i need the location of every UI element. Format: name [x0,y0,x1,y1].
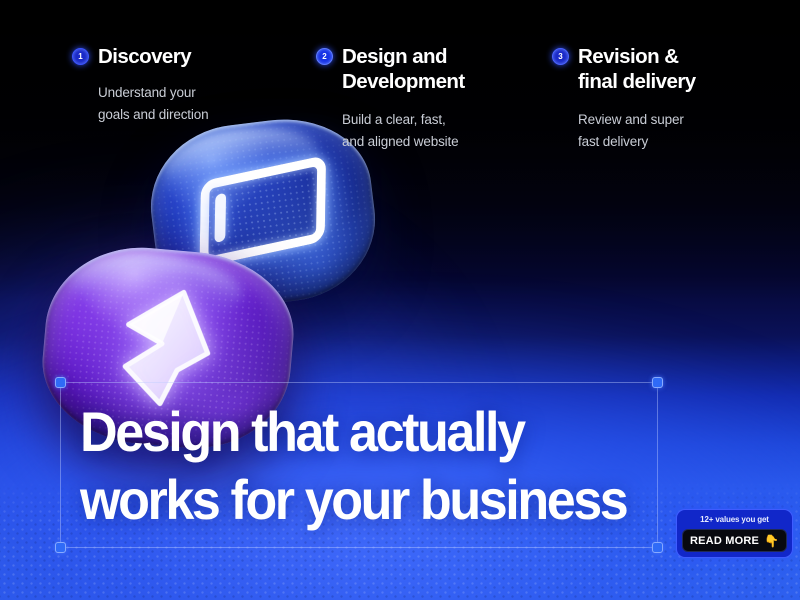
headline-line2: works for your business [80,466,638,534]
resize-handle-top-left[interactable] [55,377,66,388]
step-description: Review and super fast delivery [578,109,757,153]
resize-handle-bottom-left[interactable] [55,542,66,553]
step-header: 2 Design and Development [316,44,516,94]
headline-text[interactable]: Design that actually works for your busi… [80,398,638,534]
headline-line1: Design that actually [80,400,524,463]
step-header: 1 Discovery [72,44,272,69]
resize-handle-top-right[interactable] [652,377,663,388]
step-badge-icon: 2 [316,48,333,65]
step-description-line2: goals and direction [98,107,208,122]
step-title-line1: Revision & [578,45,678,68]
step-title-line2: Development [342,70,465,93]
window-icon-sidebar [214,193,226,244]
pointing-down-hand-icon: 👇 [764,535,779,547]
step-title: Revision & final delivery [578,44,696,94]
step-badge-icon: 3 [552,48,569,65]
read-more-button-label: READ MORE [690,535,759,547]
step-title: Discovery [98,44,191,69]
process-steps: 1 Discovery Understand your goals and di… [0,0,800,170]
step-description: Understand your goals and direction [98,82,272,126]
step-description-line2: and aligned website [342,134,459,149]
canvas-stage: 1 Discovery Understand your goals and di… [0,0,800,600]
step-header: 3 Revision & final delivery [552,44,757,94]
step-badge-icon: 1 [72,48,89,65]
step-title-line1: Design and [342,45,447,68]
step-description-line1: Build a clear, fast, [342,112,446,127]
step-item-revision-and-final-delivery[interactable]: 3 Revision & final delivery Review and s… [552,44,757,153]
step-item-design-and-development[interactable]: 2 Design and Development Build a clear, … [316,44,516,153]
read-more-button[interactable]: READ MORE 👇 [682,529,787,552]
step-title-line2: final delivery [578,70,696,93]
cta-card[interactable]: 12+ values you get READ MORE 👇 [676,509,793,558]
cta-label: 12+ values you get [682,514,787,529]
step-title: Design and Development [342,44,465,94]
step-description-line1: Understand your [98,85,196,100]
step-description: Build a clear, fast, and aligned website [342,109,516,153]
resize-handle-bottom-right[interactable] [652,542,663,553]
step-description-line1: Review and super [578,112,684,127]
step-description-line2: fast delivery [578,134,648,149]
step-item-discovery[interactable]: 1 Discovery Understand your goals and di… [72,44,272,126]
